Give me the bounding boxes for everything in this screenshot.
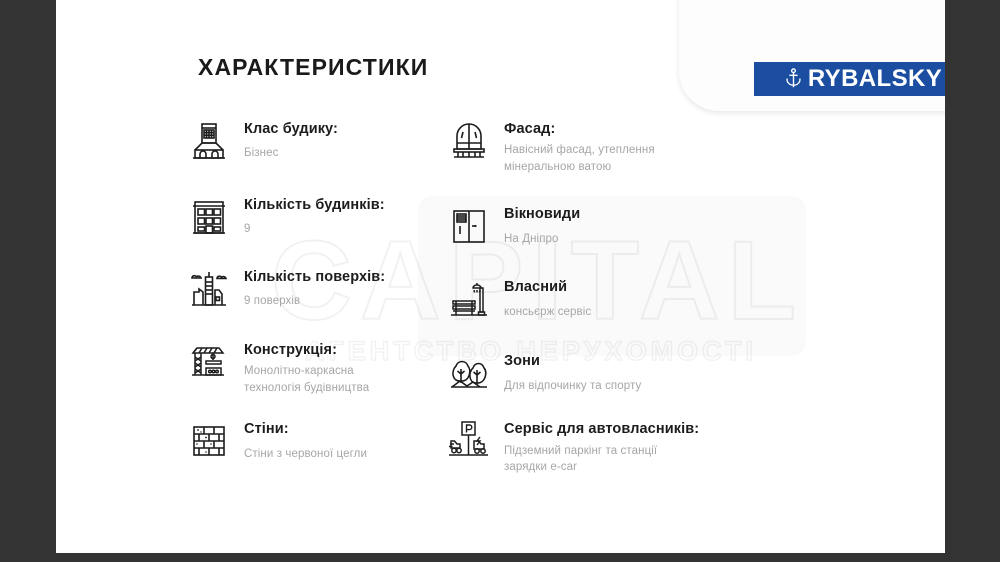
slide-card: CAPITAL АГЕНТСТВО НЕРУХОМОСТІ ХАРАКТЕРИС… [56, 0, 945, 553]
logo-panel: RYBALSKY [679, 0, 945, 111]
feature-car-service: Сервіс для автовласників: Підземний парк… [446, 418, 756, 475]
apartment-block-icon [186, 194, 232, 240]
feature-value: На Дніпро [504, 231, 580, 248]
feature-building-count: Кількість будинків: 9 [186, 194, 436, 240]
window-view-icon [446, 203, 492, 249]
feature-concierge: Власний консьєрж сервіс [446, 276, 756, 322]
feature-building-class: Клас будику: Бізнес [186, 118, 436, 164]
feature-body: Зони Для відпочинку та спорту [504, 350, 641, 394]
feature-label: Власний [504, 278, 591, 296]
feature-value: Навісний фасад, утеплення мінеральною ва… [504, 142, 696, 175]
feature-body: Кількість поверхів: 9 поверхів [244, 266, 385, 310]
feature-label: Сервіс для автовласників: [504, 420, 699, 438]
skyline-tower-icon [186, 266, 232, 312]
feature-body: Клас будику: Бізнес [244, 118, 338, 162]
park-trees-icon [446, 350, 492, 396]
feature-label: Кількість будинків: [244, 196, 385, 214]
bench-lamp-icon [446, 276, 492, 322]
feature-label: Вікновиди [504, 205, 580, 223]
feature-floor-count: Кількість поверхів: 9 поверхів [186, 266, 436, 312]
feature-value: Бізнес [244, 145, 338, 162]
building-class-icon [186, 118, 232, 164]
feature-value: 9 [244, 221, 385, 238]
feature-value: консьєрж сервіс [504, 304, 591, 321]
brick-wall-icon [186, 418, 232, 464]
feature-label: Фасад: [504, 120, 696, 138]
feature-construction: Конструкція: Монолітно-каркасна технолог… [186, 339, 436, 396]
feature-window-views: Вікновиди На Дніпро [446, 203, 756, 249]
feature-value: Монолітно-каркасна технологія будівництв… [244, 363, 409, 396]
feature-value: Підземний паркінг та станції зарядки e-c… [504, 443, 676, 476]
feature-body: Конструкція: Монолітно-каркасна технолог… [244, 339, 409, 396]
brand-logo[interactable]: RYBALSKY [754, 62, 945, 96]
features-column-left: Клас будику: Бізнес [186, 118, 436, 464]
feature-label: Зони [504, 352, 641, 370]
feature-body: Фасад: Навісний фасад, утеплення мінерал… [504, 118, 696, 175]
construction-crane-icon [186, 339, 232, 385]
feature-body: Стіни: Стіни з червоної цегли [244, 418, 367, 462]
anchor-icon [784, 68, 803, 90]
feature-body: Власний консьєрж сервіс [504, 276, 591, 320]
slide-root: CAPITAL АГЕНТСТВО НЕРУХОМОСТІ ХАРАКТЕРИС… [0, 0, 1000, 562]
feature-label: Кількість поверхів: [244, 268, 385, 286]
feature-body: Кількість будинків: 9 [244, 194, 385, 238]
feature-value: Стіни з червоної цегли [244, 446, 367, 463]
feature-label: Клас будику: [244, 120, 338, 138]
feature-value: Для відпочинку та спорту [504, 378, 641, 395]
parking-ecar-icon [446, 418, 492, 464]
feature-facade: Фасад: Навісний фасад, утеплення мінерал… [446, 118, 756, 175]
feature-body: Вікновиди На Дніпро [504, 203, 580, 247]
feature-zones: Зони Для відпочинку та спорту [446, 350, 756, 396]
feature-value: 9 поверхів [244, 293, 385, 310]
feature-label: Конструкція: [244, 341, 409, 359]
features-column-right: Фасад: Навісний фасад, утеплення мінерал… [446, 118, 756, 476]
feature-body: Сервіс для автовласників: Підземний парк… [504, 418, 699, 475]
feature-label: Стіни: [244, 420, 367, 438]
feature-walls: Стіни: Стіни з червоної цегли [186, 418, 436, 464]
brand-name: RYBALSKY [808, 67, 942, 91]
arched-window-icon [446, 118, 492, 164]
